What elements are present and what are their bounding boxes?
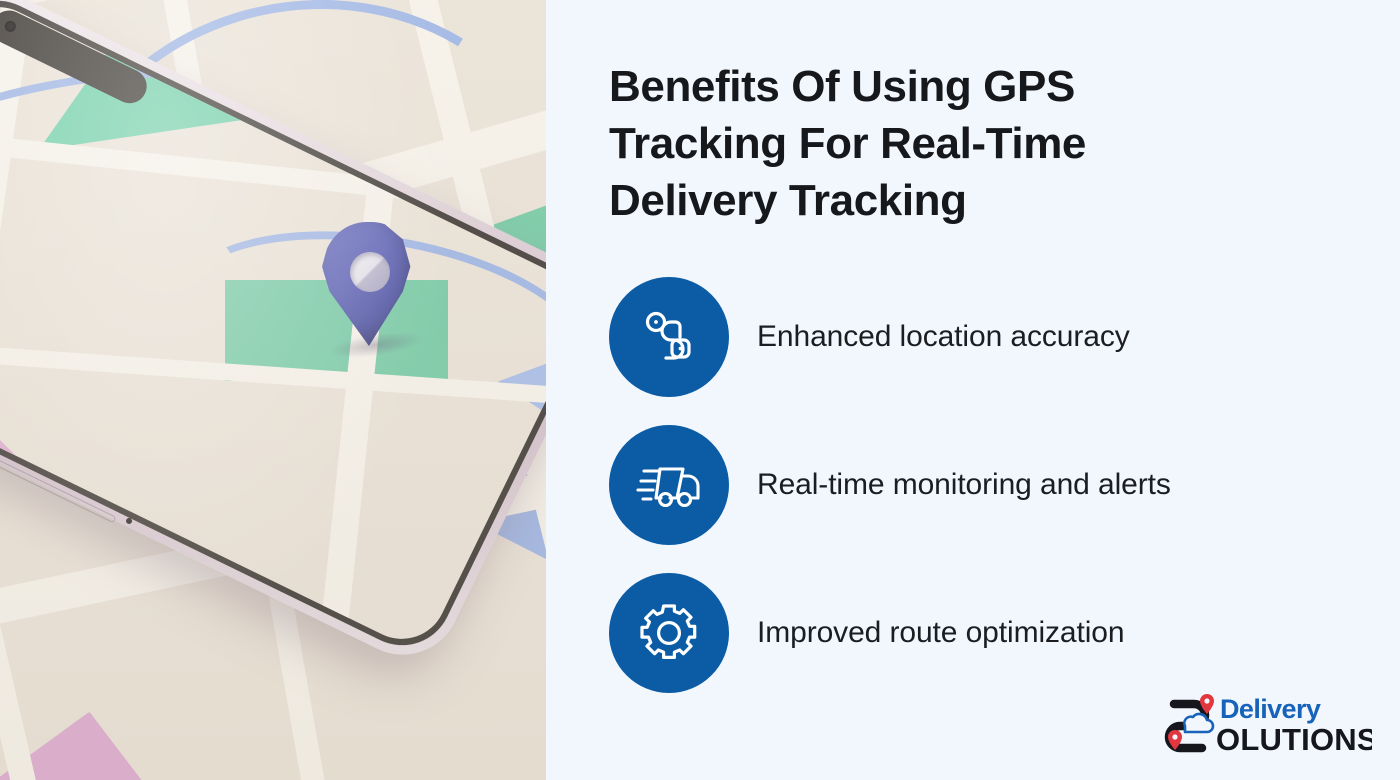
gear-icon bbox=[638, 602, 700, 664]
road-with-pins-and-cloud-icon bbox=[1168, 694, 1214, 750]
route-icon-badge bbox=[609, 277, 729, 397]
gear-icon-badge bbox=[609, 573, 729, 693]
benefit-item-realtime-monitoring: Real-time monitoring and alerts bbox=[609, 425, 1340, 545]
delivery-solutions-logo-svg: Delivery OLUTIONS bbox=[1162, 692, 1372, 758]
page-title: Benefits Of Using GPS Tracking For Real-… bbox=[609, 58, 1219, 230]
benefit-label: Improved route optimization bbox=[757, 615, 1124, 651]
delivery-truck-icon bbox=[636, 457, 702, 513]
route-icon bbox=[638, 306, 700, 368]
benefit-item-location-accuracy: Enhanced location accuracy bbox=[609, 277, 1340, 397]
map-pin-hole bbox=[350, 252, 390, 292]
benefits-list: Enhanced location accuracy bbox=[609, 277, 1340, 693]
delivery-truck-icon-badge bbox=[609, 425, 729, 545]
map-pin-3d bbox=[322, 222, 422, 354]
hero-photo bbox=[0, 0, 546, 780]
benefit-item-route-optimization: Improved route optimization bbox=[609, 573, 1340, 693]
benefit-label: Real-time monitoring and alerts bbox=[757, 467, 1171, 503]
logo-word-delivery: Delivery bbox=[1220, 694, 1321, 724]
brand-logo[interactable]: Delivery OLUTIONS bbox=[1162, 692, 1372, 758]
logo-word-solutions: OLUTIONS bbox=[1216, 722, 1372, 757]
gps-tracking-benefits-banner: Benefits Of Using GPS Tracking For Real-… bbox=[0, 0, 1400, 780]
benefit-label: Enhanced location accuracy bbox=[757, 319, 1130, 355]
content-panel: Benefits Of Using GPS Tracking For Real-… bbox=[546, 0, 1400, 780]
